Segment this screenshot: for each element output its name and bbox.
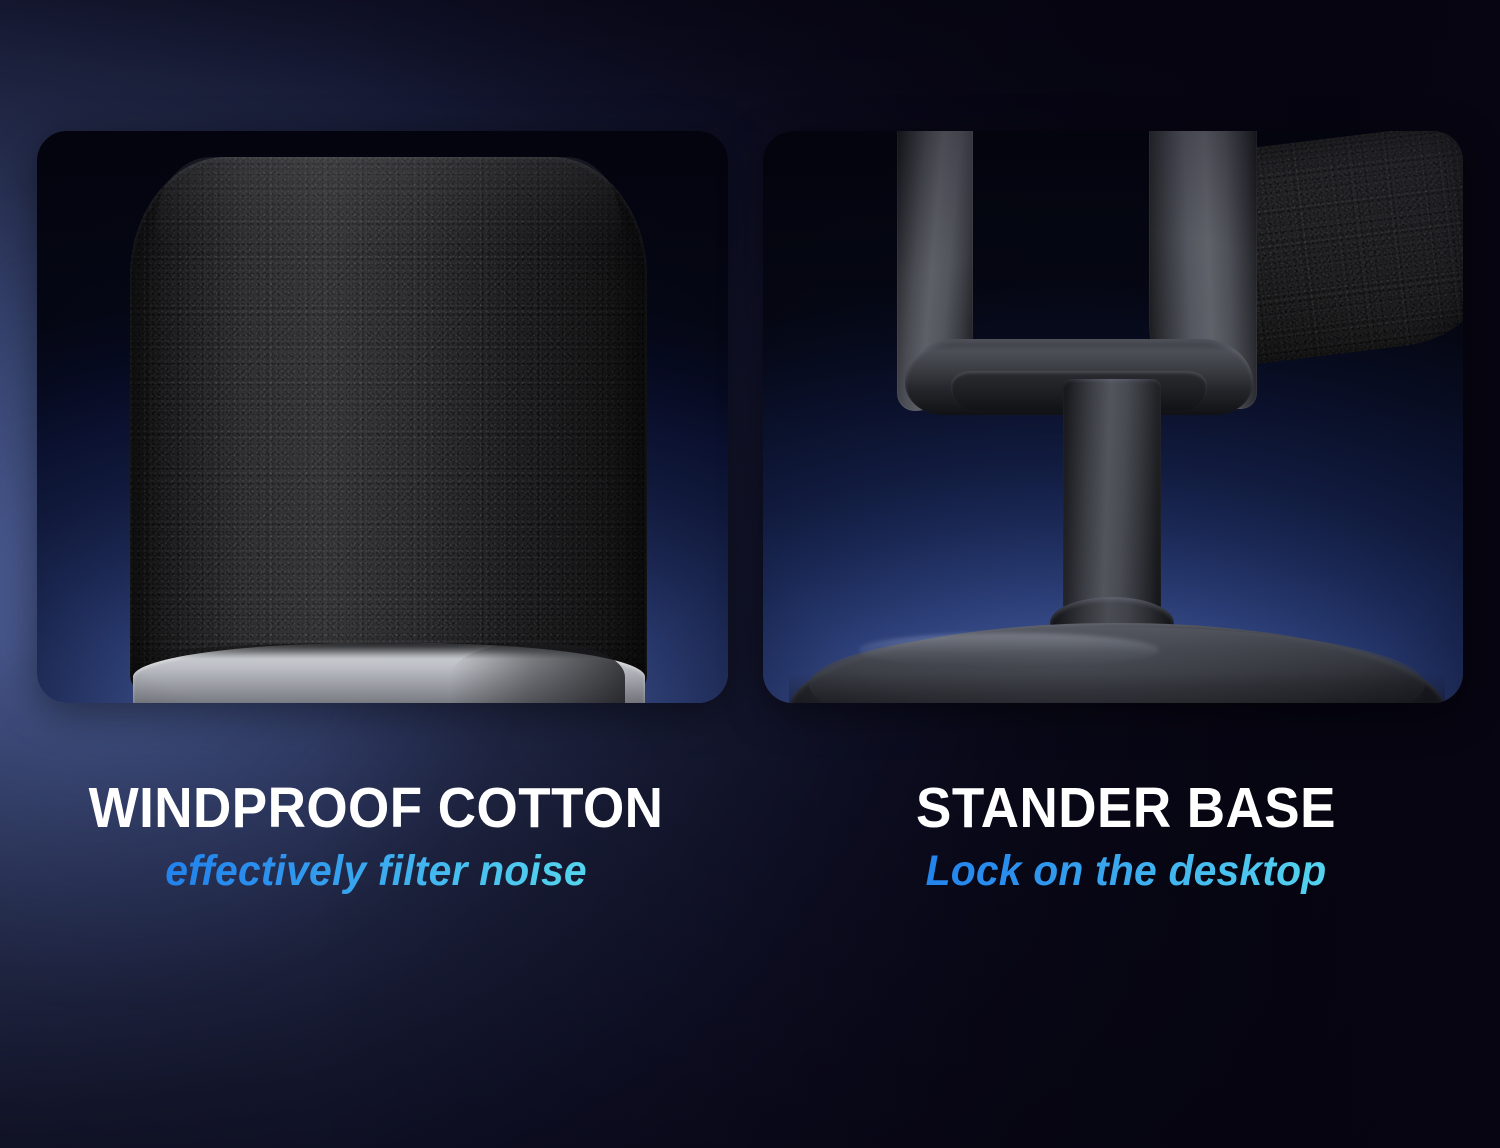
- caption-subtitle: Lock on the desktop: [771, 845, 1482, 897]
- caption-subtitle: effectively filter noise: [19, 845, 733, 897]
- panel-vignette: [763, 131, 1463, 703]
- caption-title: STANDER BASE: [778, 775, 1474, 841]
- feature-panel-stander-base: [763, 131, 1463, 703]
- panel-vignette: [37, 131, 728, 703]
- caption-stander-base: STANDER BASE Lock on the desktop: [752, 775, 1500, 897]
- caption-title: WINDPROOF COTTON: [26, 775, 725, 841]
- caption-windproof-cotton: WINDPROOF COTTON effectively filter nois…: [0, 775, 752, 897]
- feature-panel-windproof-cotton: [37, 131, 728, 703]
- product-feature-banner: WINDPROOF COTTON effectively filter nois…: [0, 0, 1500, 1148]
